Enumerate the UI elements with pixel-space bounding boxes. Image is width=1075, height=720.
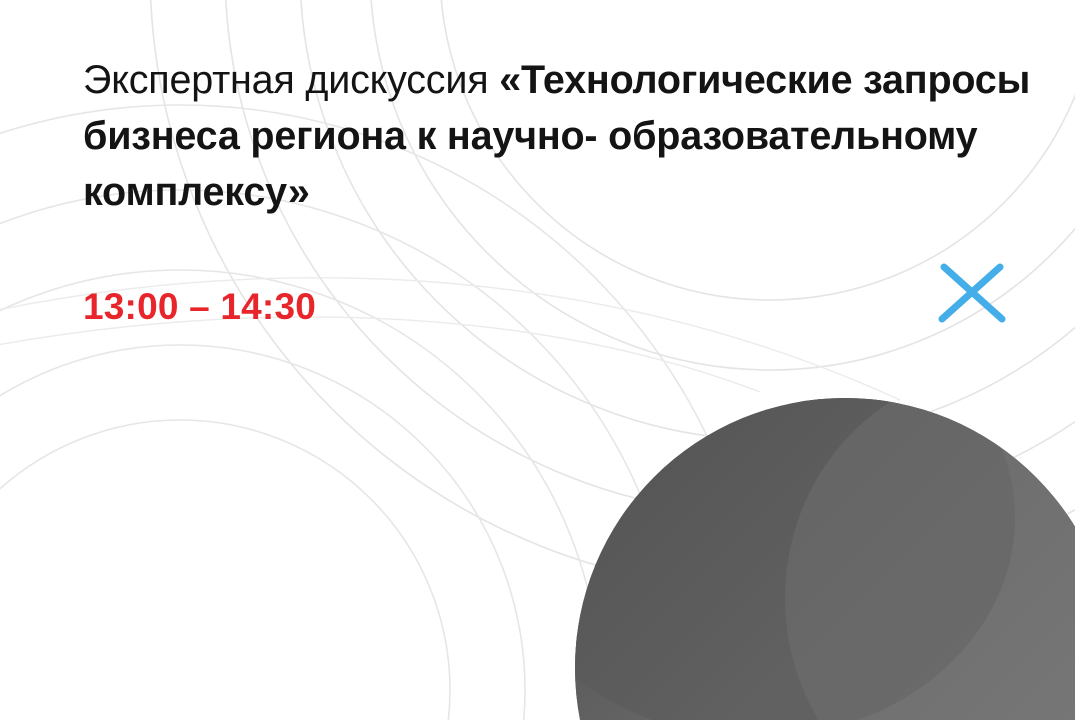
clasped-hands-photo [575,398,1075,720]
page-title: Экспертная дискуссия «Технологические за… [83,52,1043,220]
headline-emphasis: «Технологические [499,58,852,102]
time-range: 13:00 – 14:30 [83,284,316,330]
presentation-slide: Экспертная дискуссия «Технологические за… [0,0,1075,720]
headline-plain: Экспертная дискуссия [83,58,499,102]
blue-cross-icon [930,255,1016,331]
headline-block: Экспертная дискуссия «Технологические за… [83,52,1053,220]
diagonal-slash-logo-icon [0,0,120,26]
